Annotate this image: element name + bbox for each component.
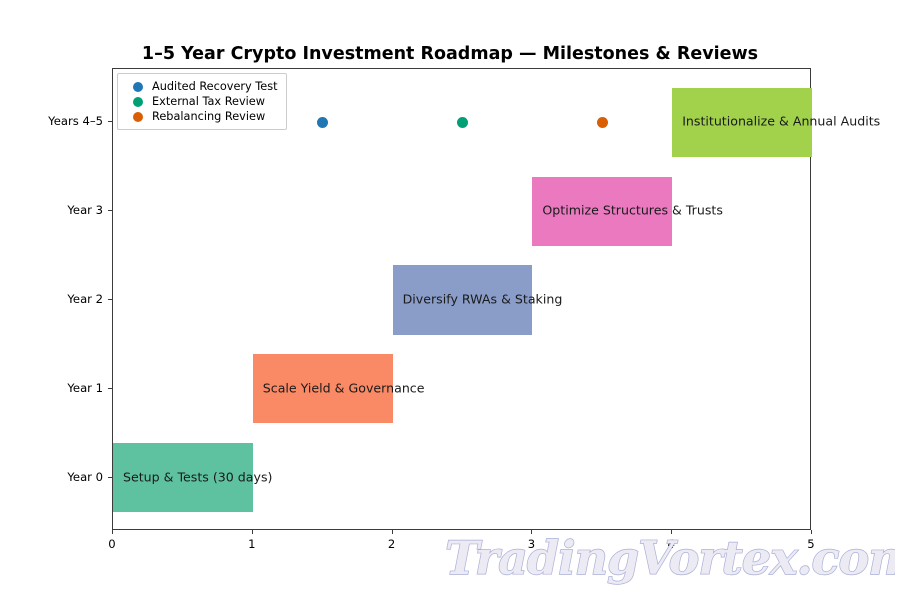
legend-item[interactable]: Audited Recovery Test: [125, 79, 278, 94]
legend-item[interactable]: External Tax Review: [125, 94, 278, 109]
chart-title: 1–5 Year Crypto Investment Roadmap — Mil…: [0, 44, 900, 64]
x-tick-label: 0: [108, 537, 115, 551]
y-tick-label: Years 4–5: [48, 114, 103, 128]
x-tick-mark: [112, 530, 113, 534]
gantt-bar-label: Setup & Tests (30 days): [123, 471, 272, 484]
milestone-marker[interactable]: [457, 117, 468, 128]
x-tick-label: 4: [667, 537, 674, 551]
plot-area: Setup & Tests (30 days)Scale Yield & Gov…: [112, 68, 811, 530]
x-tick-label: 5: [807, 537, 814, 551]
x-tick-mark: [392, 530, 393, 534]
gantt-bar-label: Optimize Structures & Trusts: [542, 205, 723, 218]
milestone-marker[interactable]: [597, 117, 608, 128]
legend-color-dot-icon: [133, 112, 143, 122]
chart-legend: Audited Recovery TestExternal Tax Review…: [117, 73, 287, 130]
x-tick-mark: [531, 530, 532, 534]
y-axis: Year 0Year 1Year 2Year 3Years 4–5: [0, 68, 103, 530]
legend-color-dot-icon: [133, 97, 143, 107]
chart-figure: 1–5 Year Crypto Investment Roadmap — Mil…: [0, 0, 900, 600]
x-tick-label: 2: [388, 537, 395, 551]
gantt-bar-label: Diversify RWAs & Staking: [403, 294, 563, 307]
legend-item[interactable]: Rebalancing Review: [125, 109, 278, 124]
milestone-marker[interactable]: [317, 117, 328, 128]
gantt-bar-label: Scale Yield & Governance: [263, 383, 425, 396]
legend-label: External Tax Review: [152, 95, 265, 108]
y-tick-label: Year 0: [67, 470, 103, 484]
x-tick-mark: [252, 530, 253, 534]
x-tick-mark: [811, 530, 812, 534]
gantt-bar-label: Institutionalize & Annual Audits: [682, 116, 880, 129]
y-tick-label: Year 1: [67, 381, 103, 395]
plot-inner: Setup & Tests (30 days)Scale Yield & Gov…: [113, 69, 810, 529]
y-tick-label: Year 3: [67, 203, 103, 217]
x-tick-label: 1: [248, 537, 255, 551]
x-tick-mark: [671, 530, 672, 534]
legend-label: Audited Recovery Test: [152, 80, 278, 93]
y-tick-label: Year 2: [67, 292, 103, 306]
legend-color-dot-icon: [133, 82, 143, 92]
x-tick-label: 3: [528, 537, 535, 551]
legend-label: Rebalancing Review: [152, 110, 265, 123]
